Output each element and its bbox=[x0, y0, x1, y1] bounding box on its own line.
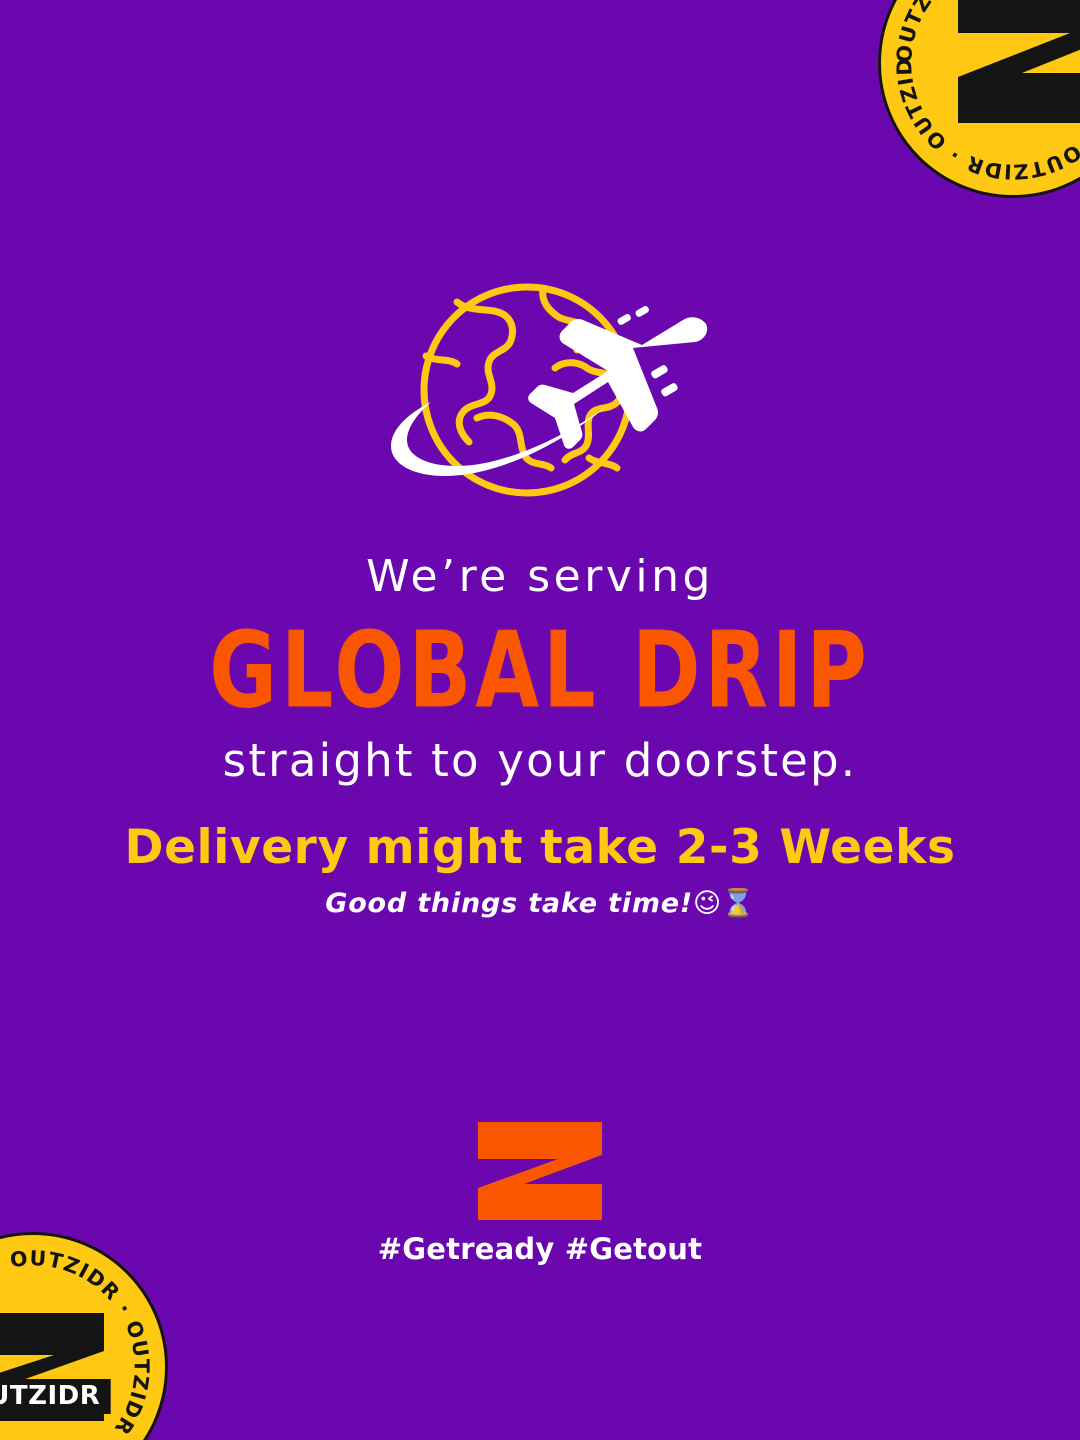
outzidr-z-logo bbox=[478, 1122, 602, 1220]
delivery-subline: Good things take time!😉⌛ bbox=[0, 888, 1080, 920]
wink-hourglass-emoji: 😉⌛ bbox=[693, 888, 755, 919]
copy-kicker: We’re serving bbox=[0, 552, 1080, 603]
stamp-wordmark-bottom-left: OUTZIDR bbox=[0, 1379, 110, 1414]
delivery-subline-text: Good things take time! bbox=[325, 888, 693, 919]
brand-stamp-bottom-left: OUTZIDR · OUTZIDR · OUTZIDR · OUTZIDR · … bbox=[0, 1232, 168, 1440]
poster-canvas: OUTZIDR · OUTZIDR · OUTZIDR · OUTZIDR · … bbox=[0, 0, 1080, 1440]
delivery-note-block: Delivery might take 2-3 Weeks Good thing… bbox=[0, 822, 1080, 920]
stamp-z-mark-top-right bbox=[950, 0, 1080, 127]
brand-stamp-top-right: OUTZIDR · OUTZIDR · OUTZIDR · OUTZIDR · … bbox=[878, 0, 1080, 198]
globe-icon bbox=[424, 287, 630, 493]
copy-headline: GLOBAL DRIP bbox=[22, 615, 1059, 728]
globe-airplane-illustration bbox=[365, 272, 715, 508]
copy-tagline: straight to your doorstep. bbox=[0, 735, 1080, 787]
delivery-headline: Delivery might take 2-3 Weeks bbox=[0, 822, 1080, 874]
airplane-icon bbox=[528, 305, 707, 449]
main-copy-block: We’re serving GLOBAL DRIP straight to yo… bbox=[0, 552, 1080, 787]
